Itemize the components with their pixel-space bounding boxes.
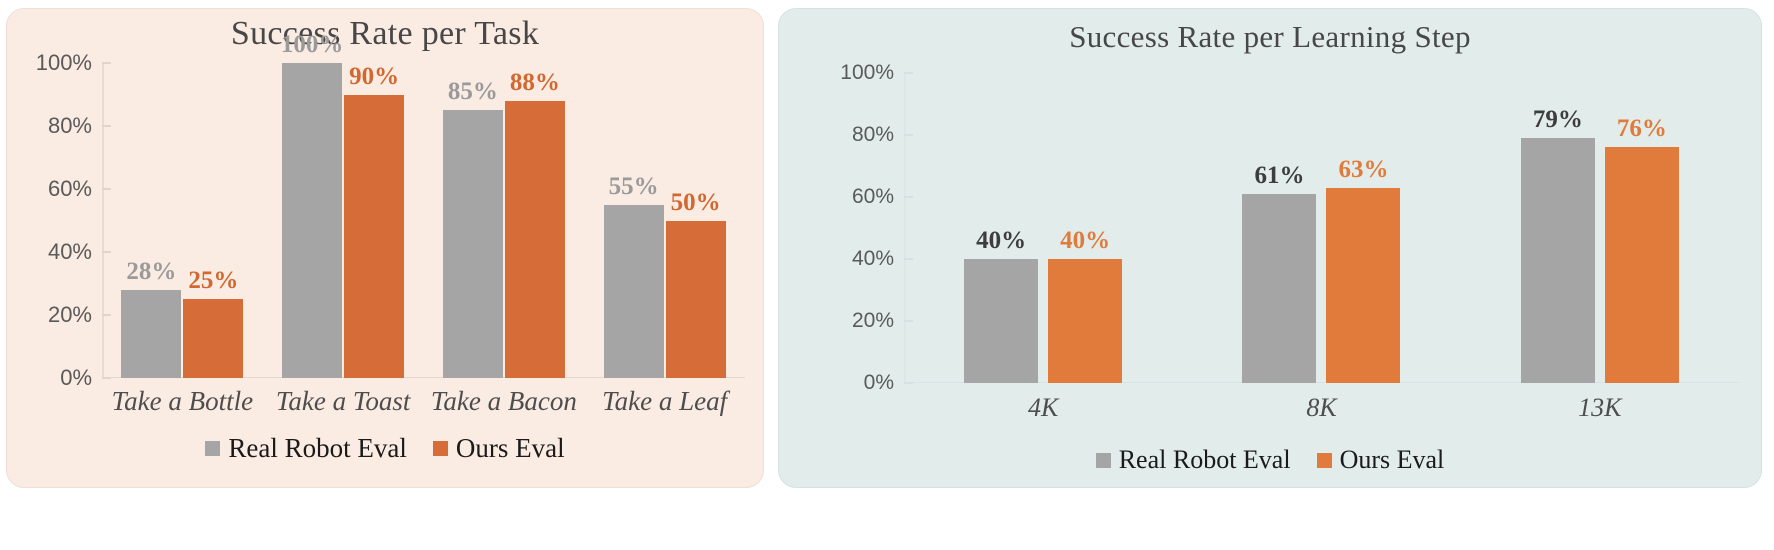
bar-wrapper: 90%	[344, 63, 404, 378]
bar-ours-eval[interactable]	[666, 221, 726, 379]
legend-label: Real Robot Eval	[228, 433, 406, 464]
bar-real-robot-eval[interactable]	[121, 290, 181, 378]
legend-left: Real Robot EvalOurs Eval	[7, 433, 763, 464]
x-axis-category-label: 4K	[904, 393, 1182, 423]
x-axis-category-label: 8K	[1182, 393, 1460, 423]
bar-wrapper: 88%	[505, 63, 565, 378]
x-axis-category-label: Take a Toast	[263, 386, 424, 417]
x-axis-category-label: Take a Bacon	[424, 386, 585, 417]
bar-wrapper: 50%	[666, 63, 726, 378]
bar-ours-eval[interactable]	[344, 95, 404, 379]
bar-ours-eval[interactable]	[505, 101, 565, 378]
bar-group: 85%88%	[424, 63, 585, 378]
y-tick-label: 100%	[840, 61, 894, 85]
bar-value-label: 50%	[671, 190, 721, 215]
legend-label: Ours Eval	[456, 433, 565, 464]
y-tick-label: 0%	[60, 365, 92, 391]
legend-label: Real Robot Eval	[1119, 445, 1291, 475]
legend-label: Ours Eval	[1340, 445, 1445, 475]
bar-wrapper: 63%	[1326, 73, 1400, 383]
y-tick-label: 20%	[48, 302, 92, 328]
bar-group: 40%40%	[904, 73, 1182, 383]
chart-title-right: Success Rate per Learning Step	[779, 9, 1761, 55]
bar-value-label: 28%	[126, 259, 176, 284]
bar-value-label: 90%	[349, 64, 399, 89]
bar-ours-eval[interactable]	[183, 299, 243, 378]
bar-value-label: 63%	[1338, 157, 1388, 182]
bar-value-label: 76%	[1617, 116, 1667, 141]
bar-wrapper: 28%	[121, 63, 181, 378]
y-tick-label: 60%	[48, 176, 92, 202]
legend-item-ours-eval[interactable]: Ours Eval	[1317, 445, 1445, 475]
y-tick-label: 20%	[852, 309, 894, 333]
bar-real-robot-eval[interactable]	[282, 63, 342, 378]
bar-wrapper: 100%	[282, 63, 342, 378]
bar-series-left: 28%25%100%90%85%88%55%50%	[102, 63, 745, 378]
bar-value-label: 88%	[510, 70, 560, 95]
bar-value-label: 79%	[1533, 107, 1583, 132]
legend-item-real-robot-eval[interactable]: Real Robot Eval	[1096, 445, 1291, 475]
bar-group: 61%63%	[1182, 73, 1460, 383]
legend-swatch-icon	[433, 441, 448, 456]
bar-wrapper: 55%	[604, 63, 664, 378]
bar-wrapper: 25%	[183, 63, 243, 378]
x-axis-category-label: Take a Leaf	[584, 386, 745, 417]
y-tick-label: 0%	[864, 371, 894, 395]
bar-ours-eval[interactable]	[1605, 147, 1679, 383]
y-tick-label: 80%	[48, 113, 92, 139]
y-tick-label: 60%	[852, 185, 894, 209]
bar-ours-eval[interactable]	[1326, 188, 1400, 383]
chart-title-left: Success Rate per Task	[7, 9, 763, 53]
bar-value-label: 61%	[1254, 163, 1304, 188]
bar-wrapper: 76%	[1605, 73, 1679, 383]
bar-value-label: 100%	[281, 32, 344, 57]
legend-swatch-icon	[1317, 453, 1332, 468]
bar-wrapper: 40%	[964, 73, 1038, 383]
bar-wrapper: 85%	[443, 63, 503, 378]
x-axis-labels-left: Take a BottleTake a ToastTake a BaconTak…	[7, 386, 745, 417]
bar-real-robot-eval[interactable]	[1242, 194, 1316, 383]
y-tick-label: 40%	[852, 247, 894, 271]
plot-area-left: 100%80%60%40%20%0% 28%25%100%90%85%88%55…	[7, 63, 745, 378]
legend-item-real-robot-eval[interactable]: Real Robot Eval	[205, 433, 406, 464]
bar-group: 28%25%	[102, 63, 263, 378]
bar-real-robot-eval[interactable]	[1521, 138, 1595, 383]
chart-panel-success-rate-per-task: Success Rate per Task 100%80%60%40%20%0%…	[6, 8, 764, 488]
bar-value-label: 55%	[609, 174, 659, 199]
bar-value-label: 40%	[976, 228, 1026, 253]
figure-root: Success Rate per Task 100%80%60%40%20%0%…	[0, 0, 1774, 550]
bar-wrapper: 61%	[1242, 73, 1316, 383]
bar-real-robot-eval[interactable]	[604, 205, 664, 378]
y-tick-label: 40%	[48, 239, 92, 265]
bar-value-label: 25%	[188, 268, 238, 293]
bar-series-right: 40%40%61%63%79%76%	[904, 73, 1739, 383]
y-tick-label: 100%	[36, 50, 92, 76]
legend-swatch-icon	[205, 441, 220, 456]
legend-item-ours-eval[interactable]: Ours Eval	[433, 433, 565, 464]
y-tick-label: 80%	[852, 123, 894, 147]
bar-group: 79%76%	[1461, 73, 1739, 383]
bar-value-label: 40%	[1060, 228, 1110, 253]
bar-wrapper: 79%	[1521, 73, 1595, 383]
bar-ours-eval[interactable]	[1048, 259, 1122, 383]
bar-group: 100%90%	[263, 63, 424, 378]
chart-panel-success-rate-per-learning-step: Success Rate per Learning Step 100%80%60…	[778, 8, 1762, 488]
legend-right: Real Robot EvalOurs Eval	[779, 445, 1761, 475]
x-axis-category-label: Take a Bottle	[102, 386, 263, 417]
bar-real-robot-eval[interactable]	[964, 259, 1038, 383]
bar-value-label: 85%	[448, 79, 498, 104]
bar-real-robot-eval[interactable]	[443, 110, 503, 378]
plot-area-right: 100%80%60%40%20%0% 40%40%61%63%79%76%	[779, 73, 1739, 383]
x-axis-labels-right: 4K8K13K	[779, 393, 1739, 423]
bar-group: 55%50%	[584, 63, 745, 378]
x-axis-category-label: 13K	[1461, 393, 1739, 423]
legend-swatch-icon	[1096, 453, 1111, 468]
bar-wrapper: 40%	[1048, 73, 1122, 383]
